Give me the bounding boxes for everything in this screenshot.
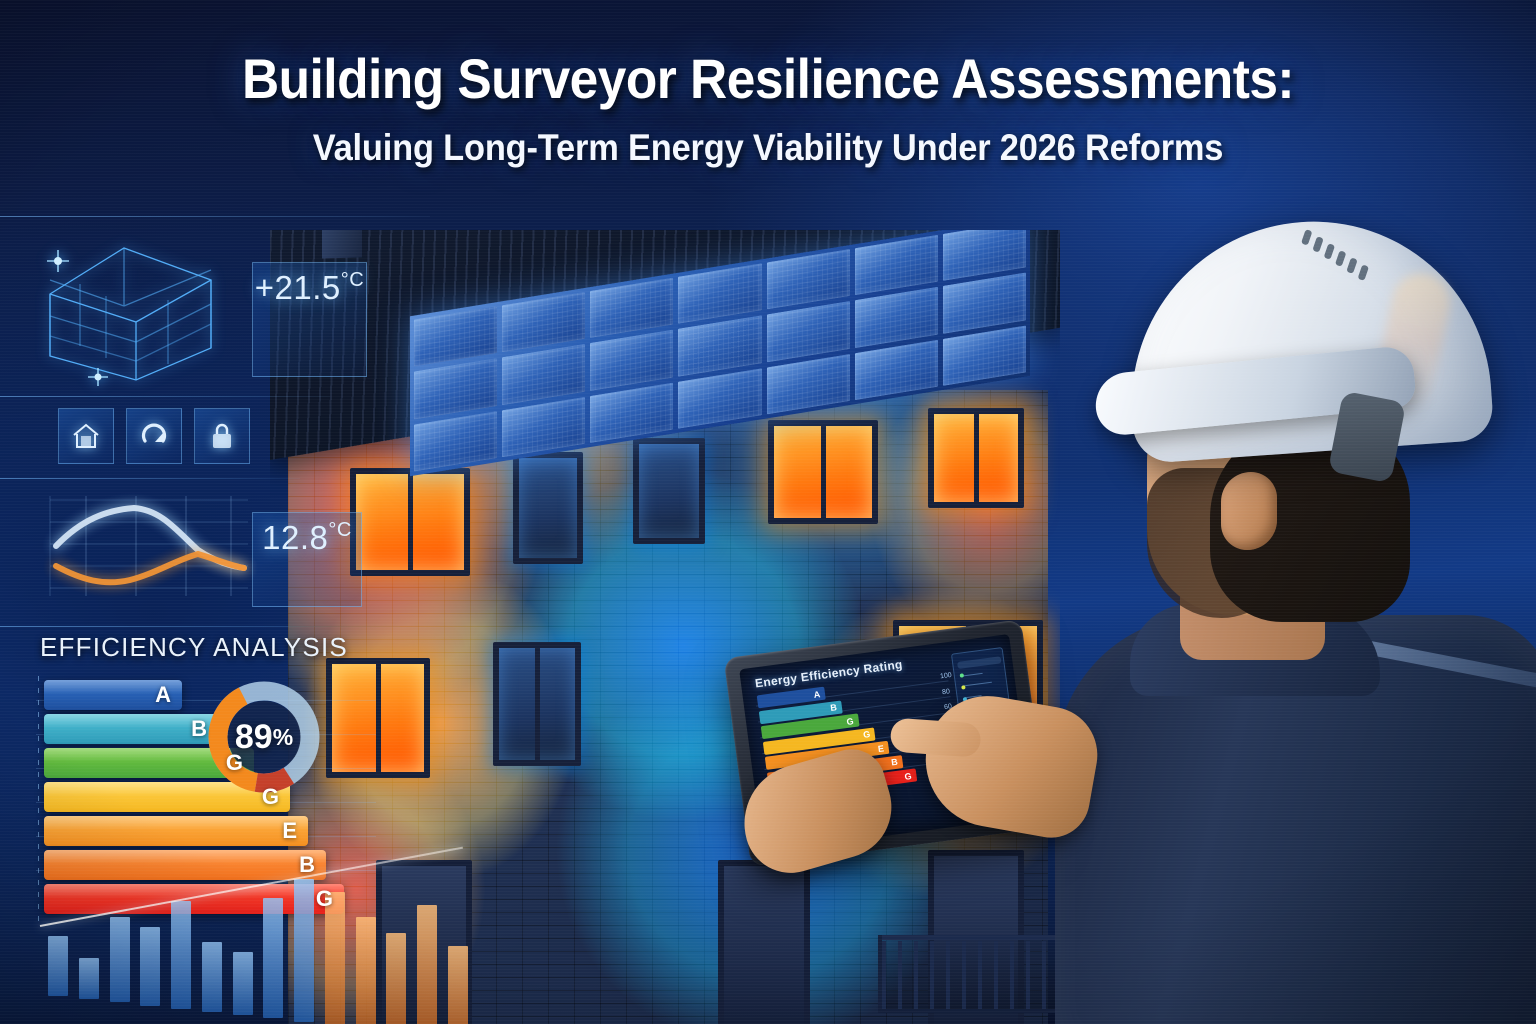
solar-panel-cell [590,330,673,391]
temperature-reading-1: +21.5°C [252,262,367,377]
solar-panel-cell [678,263,761,324]
index-finger [890,718,982,758]
solar-panel-cell [590,278,673,339]
solar-panel-cell [855,339,938,400]
epc-bar-letter: G [226,750,243,776]
epc-bar-letter: G [316,886,333,912]
temp-unit-2: °C [328,519,351,542]
balcony-railing [882,941,1060,1009]
temp-value-1: +21.5 [255,269,341,307]
epc-bar-0: A [44,680,182,710]
window-cold-1 [513,452,583,564]
epc-bar-1: B [44,714,218,744]
page-subtitle: Valuing Long-Term Energy Viability Under… [54,127,1482,169]
temperature-line-chart [26,488,266,610]
bar-chart-bar [48,936,68,996]
epc-bar-letter: B [299,852,315,878]
temp-value-2: 12.8 [262,519,328,557]
bar-chart-bar [356,917,376,1024]
tablet-value-label: 100 [940,672,953,680]
window-cold-2 [633,438,705,544]
solar-panel-cell [502,344,585,405]
page-title: Building Surveyor Resilience Assessments… [61,46,1474,111]
efficiency-axis [38,676,39,926]
solar-panel-cell [502,292,585,353]
solar-panel-cell [855,235,938,296]
solar-panel-cell [414,306,497,367]
bar-chart-bar [386,933,406,1024]
poster-canvas: +21.5°C 12.8°C [0,0,1536,1024]
epc-bar-letter: G [262,784,279,810]
bar-chart-bar [171,901,191,1008]
door-center [718,860,810,1024]
bar-chart-bar [79,958,99,999]
solar-panel-cell [943,230,1026,281]
efficiency-panel-title: EFFICIENCY ANALYSIS [40,632,348,663]
gauge-value-text: 89% [203,676,325,798]
gauge-unit: % [273,724,293,751]
solar-panel-cell [414,358,497,419]
bar-chart-bar [294,879,314,1021]
chimney [322,230,362,258]
solar-panel-cell [678,316,761,377]
bar-chart-bar [140,927,160,1006]
epc-bar-letter: A [155,682,171,708]
bar-chart-bar [263,898,283,1018]
window-hot-1 [350,468,470,576]
balcony [878,935,1060,1013]
window-cold-3 [493,642,581,766]
solar-panel-cell [767,249,850,310]
solar-panel-cell [767,301,850,362]
lock-icon[interactable] [194,408,250,464]
temperature-reading-2: 12.8°C [252,512,362,607]
solar-panel-cell [414,411,497,472]
bar-chart-bar [233,952,253,1015]
epc-bar-letter: E [282,818,297,844]
efficiency-bar-chart [48,838,468,996]
hud-guide-line [0,626,400,627]
solar-panel-cell [678,368,761,429]
tablet-value-label: 80 [942,687,955,695]
ear [1221,472,1277,550]
efficiency-gauge: 89% [203,676,325,798]
window-hot-3 [928,408,1024,508]
hud-guide-line [0,478,300,479]
bar-chart-bar [417,905,437,1024]
home-icon[interactable] [58,408,114,464]
bar-chart-bar [448,946,468,1024]
temp-unit-1: °C [341,269,364,292]
bar-chart-bar [202,942,222,1012]
solar-panel-cell [767,354,850,415]
refresh-icon[interactable] [126,408,182,464]
title-block: Building Surveyor Resilience Assessments… [0,46,1536,169]
solar-panel-cell [943,273,1026,334]
solar-panel-cell [943,325,1026,386]
solar-panel-cell [855,287,938,348]
bar-chart-bar [110,917,130,1002]
solar-panel-cell [502,396,585,457]
house-wireframe-icon [28,228,233,393]
solar-panel-cell [590,382,673,443]
hud-guide-line [0,396,330,397]
hud-guide-line [0,216,430,217]
epc-bar-letter: B [191,716,207,742]
surveyor-person [1035,200,1536,1024]
window-hot-2 [768,420,878,524]
hud-icon-row [58,408,250,464]
